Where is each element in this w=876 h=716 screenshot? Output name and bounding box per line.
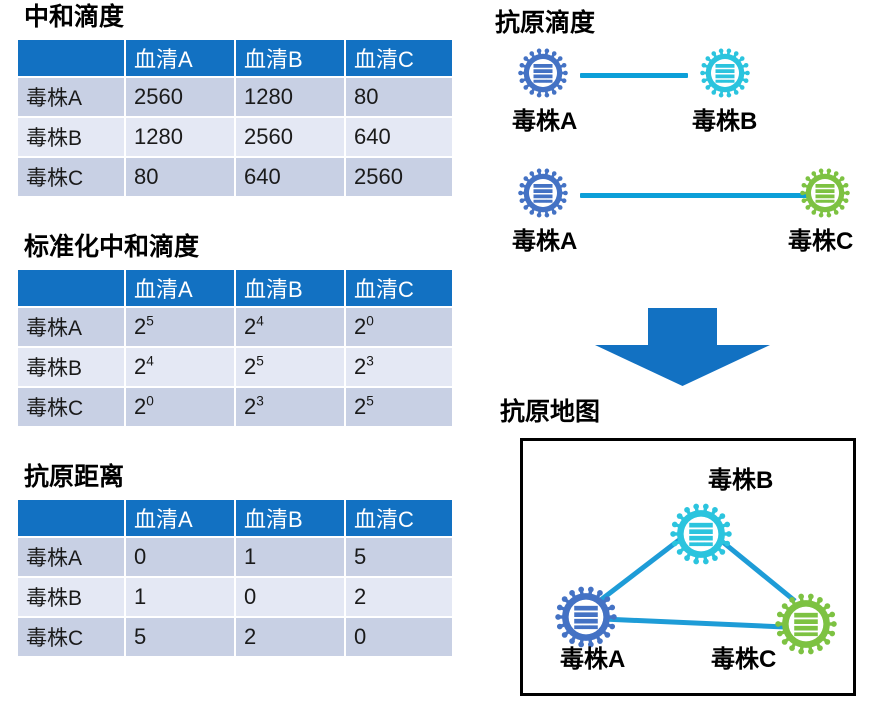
table-row: 毒株B 1280 2560 640 xyxy=(18,118,452,156)
column-header: 血清B xyxy=(236,500,344,536)
strain-label: 毒株A xyxy=(512,108,577,136)
table-cell: 24 xyxy=(236,308,344,346)
row-header: 毒株B xyxy=(18,578,124,616)
table-cell: 25 xyxy=(346,388,452,426)
column-header-corner xyxy=(18,500,124,536)
tables-column: 中和滴度 血清A 血清B 血清C 毒株A 2560 1280 80 xyxy=(0,0,470,716)
table-cell: 1280 xyxy=(126,118,234,156)
column-header: 血清C xyxy=(346,270,452,306)
table-cell: 23 xyxy=(346,348,452,386)
table-cell: 80 xyxy=(126,158,234,196)
row-header: 毒株A xyxy=(18,308,124,346)
link-line-a-b xyxy=(580,73,688,78)
table-cell: 640 xyxy=(346,118,452,156)
strain-label: 毒株B xyxy=(692,108,757,136)
row-header: 毒株A xyxy=(18,78,124,116)
column-header: 血清A xyxy=(126,270,234,306)
map-canvas: 毒株A 毒株B 毒株C xyxy=(523,441,853,693)
strain-label: 毒株C xyxy=(788,228,853,256)
arrow-down-icon xyxy=(595,308,770,386)
column-header-corner xyxy=(18,40,124,76)
table-block-normalized-titer: 标准化中和滴度 血清A 血清B 血清C 毒株A 25 24 20 xyxy=(16,232,444,428)
matrix-table: 血清A 血清B 血清C 毒株A 2560 1280 80 毒株B 1280 25… xyxy=(16,38,454,198)
column-header: 血清A xyxy=(126,500,234,536)
virus-icon xyxy=(800,168,850,223)
row-header: 毒株A xyxy=(18,538,124,576)
table-header-row: 血清A 血清B 血清C xyxy=(18,500,452,536)
table-row: 毒株C 80 640 2560 xyxy=(18,158,452,196)
table-cell: 0 xyxy=(236,578,344,616)
table-cell: 640 xyxy=(236,158,344,196)
virus-icon xyxy=(775,593,837,660)
matrix-table: 血清A 血清B 血清C 毒株A 25 24 20 毒株B 24 25 23 xyxy=(16,268,454,428)
table-cell: 2 xyxy=(236,618,344,656)
table-cell: 20 xyxy=(126,388,234,426)
table-cell: 2 xyxy=(346,578,452,616)
column-header: 血清A xyxy=(126,40,234,76)
table-cell: 5 xyxy=(126,618,234,656)
table-title: 抗原距离 xyxy=(24,462,444,492)
table-title: 标准化中和滴度 xyxy=(24,232,444,262)
row-header: 毒株B xyxy=(18,348,124,386)
table-title: 中和滴度 xyxy=(24,2,444,32)
table-cell: 25 xyxy=(236,348,344,386)
virus-icon xyxy=(670,503,732,570)
table-cell: 1 xyxy=(126,578,234,616)
row-header: 毒株C xyxy=(18,618,124,656)
table-cell: 25 xyxy=(126,308,234,346)
table-cell: 0 xyxy=(346,618,452,656)
table-cell: 23 xyxy=(236,388,344,426)
table-block-antigenic-distance: 抗原距离 血清A 血清B 血清C 毒株A 0 1 5 毒株B xyxy=(16,462,444,658)
antigenic-map-title: 抗原地图 xyxy=(500,397,600,427)
column-header: 血清C xyxy=(346,500,452,536)
table-header-row: 血清A 血清B 血清C xyxy=(18,40,452,76)
strain-label: 毒株A xyxy=(512,228,577,256)
table-cell: 2560 xyxy=(236,118,344,156)
table-row: 毒株A 0 1 5 xyxy=(18,538,452,576)
table-cell: 20 xyxy=(346,308,452,346)
column-header: 血清C xyxy=(346,40,452,76)
table-row: 毒株B 24 25 23 xyxy=(18,348,452,386)
table-cell: 80 xyxy=(346,78,452,116)
matrix-table: 血清A 血清B 血清C 毒株A 0 1 5 毒株B 1 0 2 xyxy=(16,498,454,658)
table-row: 毒株C 5 2 0 xyxy=(18,618,452,656)
table-cell: 1280 xyxy=(236,78,344,116)
row-header: 毒株C xyxy=(18,388,124,426)
link-line-a-c xyxy=(580,193,812,198)
table-row: 毒株A 25 24 20 xyxy=(18,308,452,346)
map-strain-label: 毒株C xyxy=(711,646,776,674)
row-header: 毒株B xyxy=(18,118,124,156)
table-block-neutralization-titer: 中和滴度 血清A 血清B 血清C 毒株A 2560 1280 80 xyxy=(16,2,444,198)
table-cell: 24 xyxy=(126,348,234,386)
table-row: 毒株A 2560 1280 80 xyxy=(18,78,452,116)
map-strain-label: 毒株B xyxy=(708,467,773,495)
row-header: 毒株C xyxy=(18,158,124,196)
table-row: 毒株B 1 0 2 xyxy=(18,578,452,616)
virus-icon xyxy=(518,48,568,103)
table-cell: 2560 xyxy=(346,158,452,196)
column-header: 血清B xyxy=(236,40,344,76)
column-header-corner xyxy=(18,270,124,306)
table-cell: 2560 xyxy=(126,78,234,116)
table-cell: 0 xyxy=(126,538,234,576)
virus-icon xyxy=(700,48,750,103)
virus-icon xyxy=(518,168,568,223)
column-header: 血清B xyxy=(236,270,344,306)
virus-icon xyxy=(555,586,617,653)
table-cell: 1 xyxy=(236,538,344,576)
table-header-row: 血清A 血清B 血清C xyxy=(18,270,452,306)
table-cell: 5 xyxy=(346,538,452,576)
table-row: 毒株C 20 23 25 xyxy=(18,388,452,426)
map-strain-label: 毒株A xyxy=(560,646,625,674)
antigenic-map-box: 毒株A 毒株B 毒株C xyxy=(520,438,856,696)
antigenic-titer-title: 抗原滴度 xyxy=(495,8,595,38)
